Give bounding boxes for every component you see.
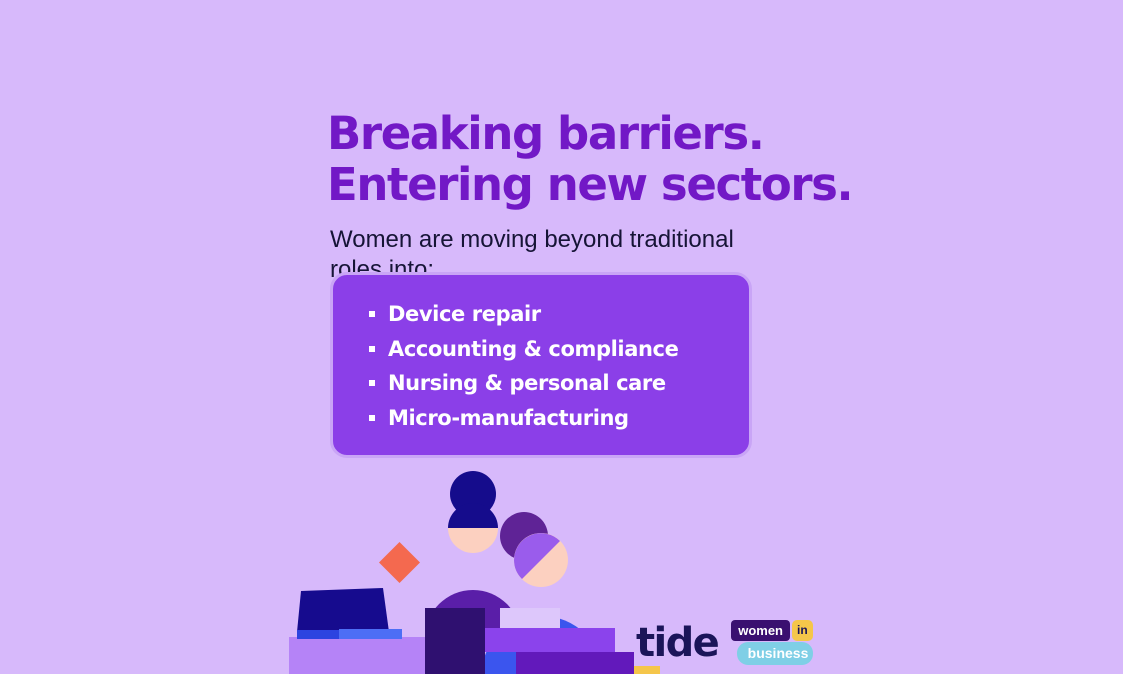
figure2-body-shape (481, 616, 603, 674)
badge-in-label: in (792, 620, 813, 641)
figure1-hair-top-shape (450, 471, 496, 517)
list-item: Micro-manufacturing (369, 401, 749, 436)
badge-top-row: women in (731, 620, 812, 641)
figure2-scarf-overlay-shape (514, 533, 560, 579)
square-bullet-icon (369, 380, 375, 386)
desk-shape (289, 637, 425, 674)
headline-line-1: Breaking barriers. (327, 108, 887, 159)
square-bullet-icon (369, 311, 375, 317)
headline-line-2: Entering new sectors. (327, 159, 887, 210)
poster-canvas: Breaking barriers. Entering new sectors.… (0, 0, 1123, 674)
figure2-scarf-shape (517, 535, 554, 583)
brand-logo-lockup: tide women in business (636, 620, 813, 665)
figure1-hair-base-shape (448, 503, 498, 528)
foreground-dark-block-shape (425, 608, 485, 674)
badge-business-label: business (737, 642, 813, 665)
list-item-label: Device repair (388, 302, 541, 326)
figure2-face-circle-shape (514, 533, 568, 587)
page-title: Breaking barriers. Entering new sectors. (327, 108, 887, 210)
laptop-keyboard-left-shape (297, 630, 339, 639)
band-light-shape (485, 628, 615, 652)
panel-light-shape (500, 608, 560, 642)
sectors-list-card: Device repair Accounting & compliance Nu… (330, 272, 752, 458)
square-bullet-icon (369, 346, 375, 352)
figure2-hair-shape (500, 512, 548, 560)
band-dark-shape (516, 652, 634, 674)
figure2-face-shape (527, 537, 564, 585)
list-item-label: Nursing & personal care (388, 371, 666, 395)
badge-women-label: women (731, 620, 790, 641)
subtitle-line-1: Women are moving beyond traditional (330, 225, 780, 255)
list-item: Accounting & compliance (369, 332, 749, 367)
list-item: Nursing & personal care (369, 366, 749, 401)
gold-accent-shape (634, 666, 660, 674)
list-item-label: Accounting & compliance (388, 337, 678, 361)
women-in-business-badge: women in business (731, 620, 812, 665)
list-item: Device repair (369, 297, 749, 332)
square-bullet-icon (369, 415, 375, 421)
figure1-body-shape (425, 590, 521, 638)
laptop-screen-shape (297, 588, 389, 632)
tide-wordmark: tide (636, 623, 718, 663)
diamond-accent-shape (379, 542, 420, 583)
laptop-keyboard-right-shape (339, 629, 402, 639)
list-item-label: Micro-manufacturing (388, 406, 629, 430)
figure1-face-shape (448, 528, 498, 553)
